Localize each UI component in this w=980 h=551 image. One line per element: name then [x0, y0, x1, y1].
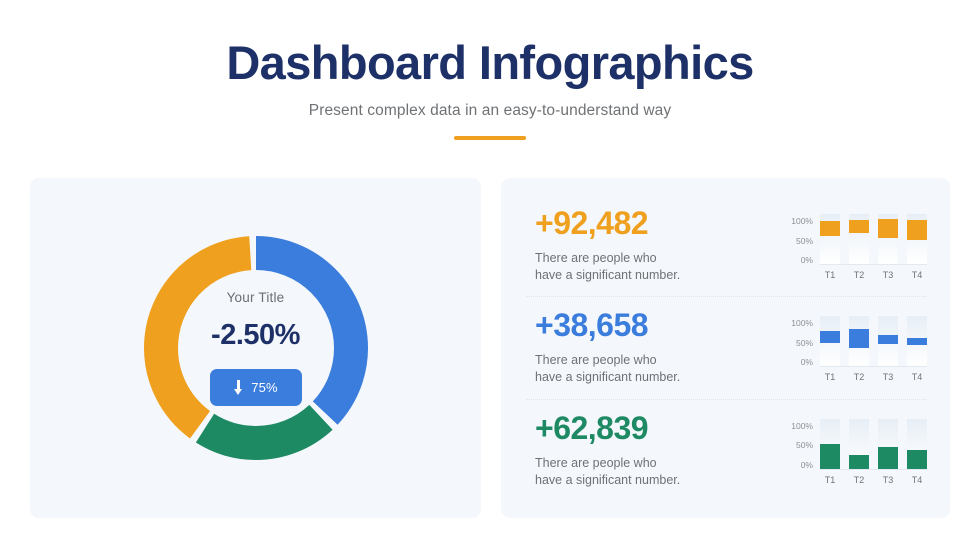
y-tick-label: 0%: [801, 460, 813, 470]
mini-chart-y-axis: 100% 50% 0%: [781, 215, 813, 265]
trend-badge-label: 75%: [251, 380, 278, 395]
mini-chart-bar-fill: [907, 220, 927, 240]
arrow-down-icon: [233, 380, 244, 395]
mini-chart-bar-fill: [907, 338, 927, 345]
mini-chart-x-axis: T1T2T3T4: [820, 372, 927, 382]
stat-number: +92,482: [535, 207, 771, 239]
stat-row[interactable]: +92,482 There are people who have a sign…: [525, 195, 928, 296]
x-tick-label: T4: [907, 475, 927, 485]
mini-chart-plot-wrap: T1T2T3T4: [820, 215, 927, 280]
mini-chart-y-axis: 100% 50% 0%: [781, 420, 813, 470]
mini-chart-bar-column[interactable]: [820, 419, 840, 469]
y-tick-label: 100%: [791, 216, 813, 226]
x-tick-label: T2: [849, 372, 869, 382]
stat-description-line2: have a significant number.: [535, 268, 680, 282]
mini-chart-bar-fill: [849, 220, 869, 233]
mini-chart-plot: [820, 420, 927, 470]
donut-chart-panel: Your Title -2.50% 75%: [30, 178, 481, 518]
mini-chart-plot-wrap: T1T2T3T4: [820, 317, 927, 382]
stats-panel: +92,482 There are people who have a sign…: [501, 178, 950, 518]
mini-chart-bar-fill: [849, 329, 869, 348]
mini-chart-bar-fill: [878, 447, 898, 469]
title-underline-rule: [454, 136, 526, 140]
x-tick-label: T3: [878, 475, 898, 485]
y-tick-label: 50%: [796, 338, 813, 348]
donut-chart[interactable]: Your Title -2.50% 75%: [125, 217, 387, 479]
mini-chart-bar-column[interactable]: [878, 214, 898, 264]
stat-description-line1: There are people who: [535, 456, 657, 470]
mini-chart-plot: [820, 317, 927, 367]
mini-chart-bar-fill: [820, 221, 840, 236]
x-tick-label: T4: [907, 270, 927, 280]
mini-chart-plot-wrap: T1T2T3T4: [820, 420, 927, 485]
mini-chart-bar-column[interactable]: [907, 214, 927, 264]
mini-chart-plot: [820, 215, 927, 265]
mini-chart-bar-fill: [820, 444, 840, 469]
mini-chart-bar-fill: [878, 219, 898, 238]
mini-chart-bar-column[interactable]: [820, 316, 840, 366]
mini-chart-bar-fill: [849, 455, 869, 469]
x-tick-label: T2: [849, 270, 869, 280]
mini-chart-bar-column[interactable]: [907, 419, 927, 469]
x-tick-label: T2: [849, 475, 869, 485]
donut-center-value: -2.50%: [168, 319, 344, 352]
dashboard-panels: Your Title -2.50% 75% +92,482 There are …: [30, 178, 950, 518]
mini-chart-bar-column[interactable]: [849, 419, 869, 469]
stat-number: +38,658: [535, 309, 771, 341]
y-tick-label: 100%: [791, 421, 813, 431]
y-tick-label: 0%: [801, 255, 813, 265]
mini-chart-bar-column[interactable]: [878, 316, 898, 366]
x-tick-label: T1: [820, 270, 840, 280]
stat-description-line1: There are people who: [535, 353, 657, 367]
stat-description: There are people who have a significant …: [535, 455, 771, 490]
stat-text-block: +92,482 There are people who have a sign…: [525, 207, 771, 285]
mini-chart-x-axis: T1T2T3T4: [820, 475, 927, 485]
stat-description-line2: have a significant number.: [535, 370, 680, 384]
stat-description-line2: have a significant number.: [535, 473, 680, 487]
x-tick-label: T4: [907, 372, 927, 382]
mini-chart-bar-fill: [907, 450, 927, 469]
stat-text-block: +62,839 There are people who have a sign…: [525, 412, 771, 490]
y-tick-label: 0%: [801, 357, 813, 367]
mini-chart-bar-column[interactable]: [820, 214, 840, 264]
stat-number: +62,839: [535, 412, 771, 444]
trend-badge[interactable]: 75%: [210, 369, 302, 406]
x-tick-label: T1: [820, 475, 840, 485]
page-subtitle: Present complex data in an easy-to-under…: [0, 102, 980, 120]
stat-description-line1: There are people who: [535, 251, 657, 265]
donut-center-content: Your Title -2.50% 75%: [168, 290, 344, 406]
x-tick-label: T3: [878, 270, 898, 280]
mini-chart-y-axis: 100% 50% 0%: [781, 317, 813, 367]
mini-chart-bar-fill: [878, 335, 898, 344]
mini-chart-bar-fill: [820, 331, 840, 343]
x-tick-label: T3: [878, 372, 898, 382]
mini-bar-chart[interactable]: 100% 50% 0% T1T2T3T4: [781, 416, 927, 485]
x-tick-label: T1: [820, 372, 840, 382]
mini-chart-bar-column[interactable]: [878, 419, 898, 469]
page-header: Dashboard Infographics Present complex d…: [0, 0, 980, 140]
stat-description: There are people who have a significant …: [535, 352, 771, 387]
mini-chart-x-axis: T1T2T3T4: [820, 270, 927, 280]
stat-text-block: +38,658 There are people who have a sign…: [525, 309, 771, 387]
y-tick-label: 50%: [796, 440, 813, 450]
mini-bar-chart[interactable]: 100% 50% 0% T1T2T3T4: [781, 313, 927, 382]
stat-row[interactable]: +62,839 There are people who have a sign…: [525, 400, 928, 501]
mini-chart-bar-column[interactable]: [907, 316, 927, 366]
mini-chart-bar-column[interactable]: [849, 214, 869, 264]
stat-row[interactable]: +38,658 There are people who have a sign…: [525, 297, 928, 398]
mini-bar-chart[interactable]: 100% 50% 0% T1T2T3T4: [781, 211, 927, 280]
y-tick-label: 100%: [791, 318, 813, 328]
donut-center-label: Your Title: [168, 290, 344, 305]
y-tick-label: 50%: [796, 236, 813, 246]
stat-description: There are people who have a significant …: [535, 250, 771, 285]
mini-chart-bar-column[interactable]: [849, 316, 869, 366]
page-title: Dashboard Infographics: [0, 38, 980, 89]
